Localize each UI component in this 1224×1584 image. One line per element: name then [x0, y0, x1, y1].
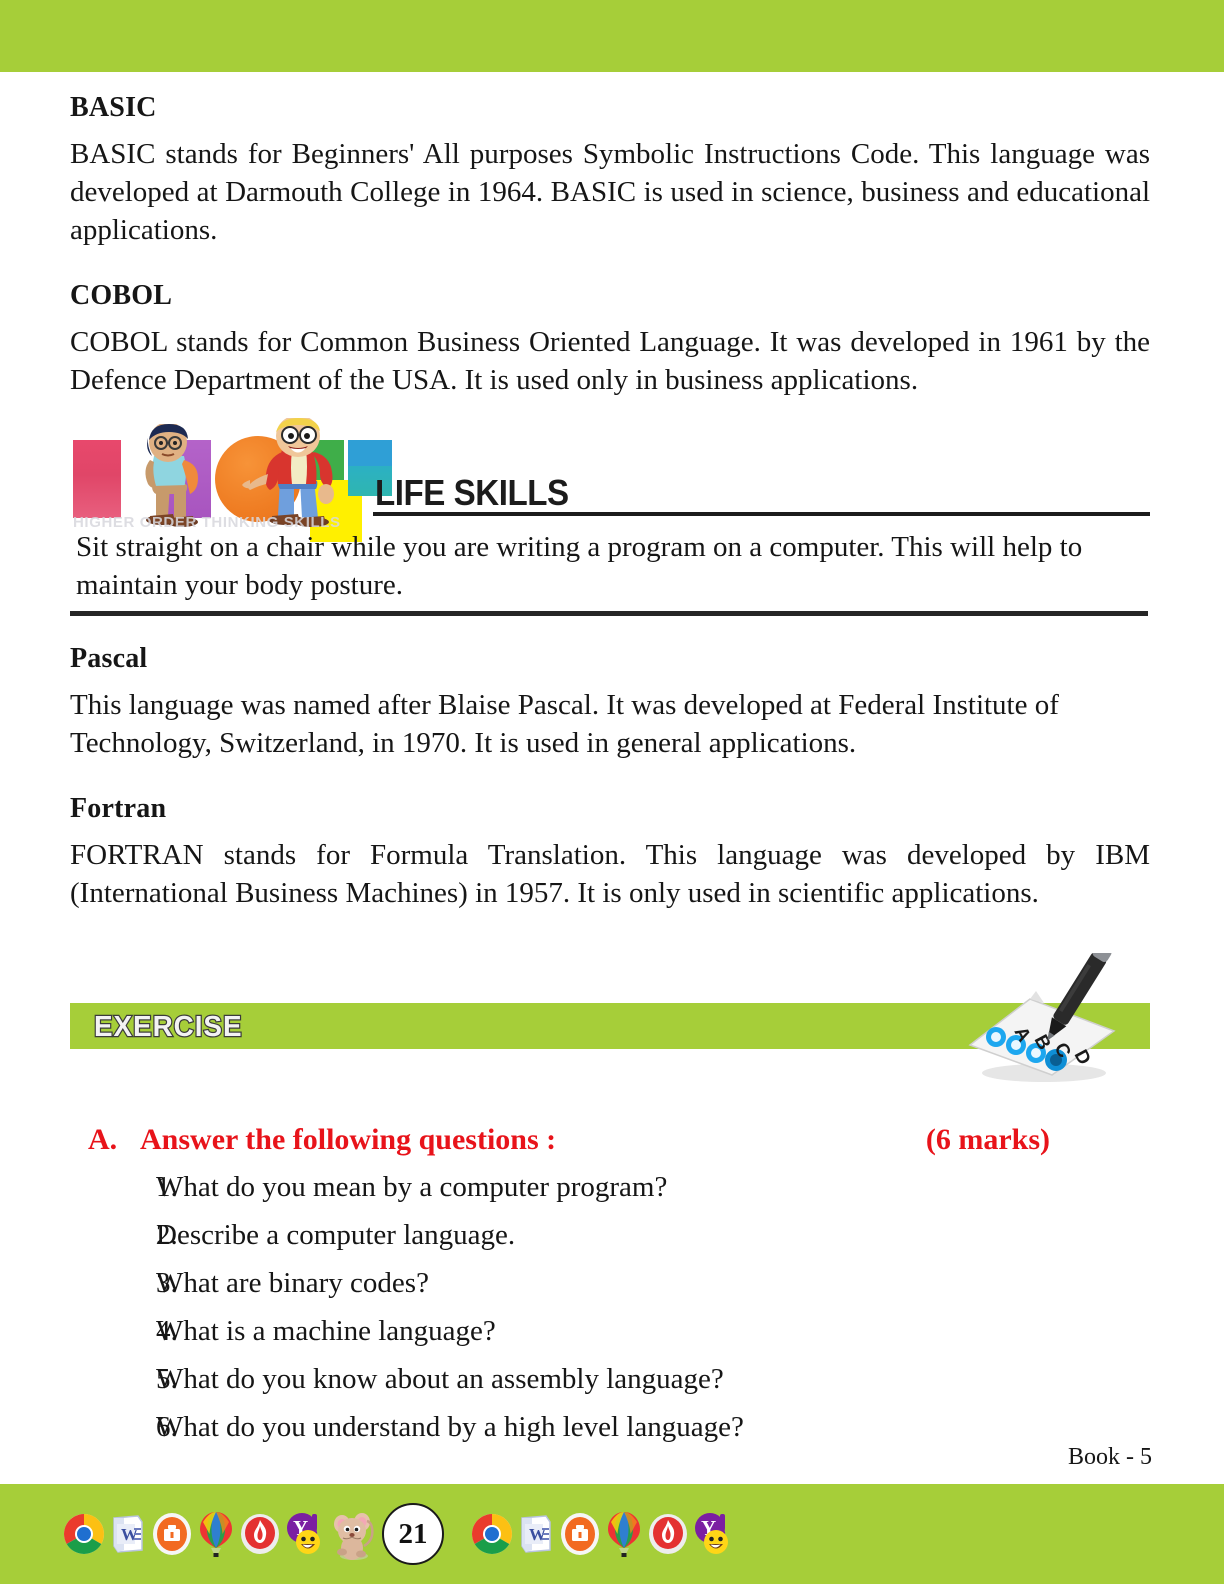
exercise-section-header: A. Answer the following questions : (6 m…: [70, 1123, 1150, 1171]
question-item: 2. Describe a computer language.: [70, 1219, 1150, 1267]
footer-spacer: [0, 1509, 62, 1559]
paint-toolbox-icon: [150, 1509, 194, 1559]
footer-icon-strip: W: [0, 1484, 1224, 1584]
question-text: What are binary codes?: [156, 1267, 1150, 1300]
ms-word-icon: W: [514, 1509, 558, 1559]
question-number: 6.: [70, 1411, 156, 1444]
mouse-mascot-icon: [326, 1509, 382, 1559]
exercise-section-letter: A.: [70, 1123, 140, 1157]
hot-air-balloon-icon: [602, 1509, 646, 1559]
question-number: 4.: [70, 1315, 156, 1348]
life-skills-title-rule: [373, 512, 1150, 516]
question-item: 3. What are binary codes?: [70, 1267, 1150, 1315]
page-number-badge: 21: [382, 1503, 444, 1565]
question-text: What do you know about an assembly langu…: [156, 1363, 1150, 1396]
question-item: 1. What do you mean by a computer progra…: [70, 1171, 1150, 1219]
textbook-page: BASIC BASIC stands for Beginners' All pu…: [0, 0, 1224, 1584]
paragraph-cobol: COBOL stands for Common Business Oriente…: [70, 324, 1150, 410]
chrome-icon: [62, 1509, 106, 1559]
ms-word-icon: W: [106, 1509, 150, 1559]
exercise-banner: EXERCISE A: [70, 975, 1150, 1115]
heading-cobol: COBOL: [70, 260, 1150, 324]
cartoon-boy-with-backpack: [122, 424, 218, 528]
footer-spacer: [444, 1509, 470, 1559]
paragraph-basic: BASIC stands for Beginners' All purposes…: [70, 136, 1150, 260]
question-text: What do you mean by a computer program?: [156, 1171, 1150, 1204]
question-number: 5.: [70, 1363, 156, 1396]
exercise-label: EXERCISE: [94, 1011, 242, 1044]
exercise-section-title: Answer the following questions :: [140, 1123, 926, 1157]
question-item: 5. What do you know about an assembly la…: [70, 1363, 1150, 1411]
question-number: 3.: [70, 1267, 156, 1300]
paragraph-pascal: This language was named after Blaise Pas…: [70, 687, 1150, 773]
exercise-marks: (6 marks): [926, 1123, 1150, 1157]
answer-sheet-pencil-icon: A B C D: [952, 953, 1132, 1088]
hot-air-balloon-icon: [194, 1509, 238, 1559]
book-label: Book - 5: [1068, 1444, 1152, 1471]
life-skills-title: LIFE SKILLS: [375, 472, 569, 514]
life-skills-bottom-rule: [70, 611, 1148, 616]
header-green-band: [0, 0, 1224, 72]
life-skills-text: Sit straight on a chair while you are wr…: [76, 528, 1146, 605]
question-number: 2.: [70, 1219, 156, 1252]
question-text: What do you understand by a high level l…: [156, 1411, 1150, 1444]
banner-bar-pink: [73, 440, 121, 518]
question-item: 4. What is a machine language?: [70, 1315, 1150, 1363]
question-number: 1.: [70, 1171, 156, 1204]
life-skills-box: LIFE SKILLS HIGHER ORDER THINKING SKILLS…: [70, 428, 1150, 623]
paragraph-fortran: FORTRAN stands for Formula Translation. …: [70, 837, 1150, 923]
life-skills-banner-art: [70, 428, 1150, 523]
heading-fortran: Fortran: [70, 773, 1150, 837]
question-item: 6. What do you understand by a high leve…: [70, 1411, 1150, 1459]
nero-flame-icon: [238, 1509, 282, 1559]
nero-flame-icon: [646, 1509, 690, 1559]
exercise-questions: A. Answer the following questions : (6 m…: [70, 1123, 1150, 1459]
yahoo-messenger-icon: Y: [282, 1509, 326, 1559]
chrome-icon: [470, 1509, 514, 1559]
heading-pascal: Pascal: [70, 623, 1150, 687]
paint-toolbox-icon: [558, 1509, 602, 1559]
question-text: What is a machine language?: [156, 1315, 1150, 1348]
heading-basic: BASIC: [70, 72, 1150, 136]
page-content: BASIC BASIC stands for Beginners' All pu…: [70, 72, 1150, 1459]
yahoo-messenger-icon: Y: [690, 1509, 734, 1559]
question-text: Describe a computer language.: [156, 1219, 1150, 1252]
